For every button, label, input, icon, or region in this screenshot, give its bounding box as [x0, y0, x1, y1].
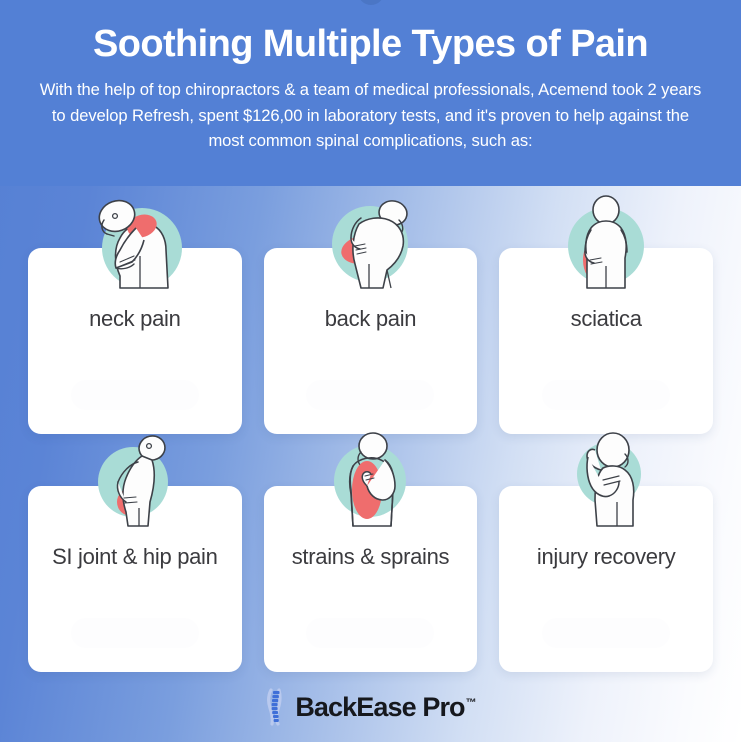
card-slot-back-pain: back pain	[264, 248, 478, 434]
card-placeholder-bar	[71, 380, 199, 410]
pain-card-si-joint-hip-pain[interactable]: SI joint & hip pain	[28, 486, 242, 672]
card-slot-sciatica: sciatica	[499, 248, 713, 434]
trademark-symbol: ™	[466, 697, 477, 709]
card-placeholder-bar	[71, 618, 199, 648]
card-placeholder-bar	[542, 380, 670, 410]
pain-type-card-grid: neck pain	[0, 248, 741, 672]
pain-card-neck-pain[interactable]: neck pain	[28, 248, 242, 434]
pain-card-injury-recovery[interactable]: injury recovery	[499, 486, 713, 672]
page-subtitle: With the help of top chiropractors & a t…	[35, 65, 707, 154]
card-label: sciatica	[563, 306, 650, 332]
card-slot-injury-recovery: injury recovery	[499, 486, 713, 672]
pain-card-sciatica[interactable]: sciatica	[499, 248, 713, 434]
card-label: strains & sprains	[284, 544, 458, 570]
card-slot-si-joint-hip-pain: SI joint & hip pain	[28, 486, 242, 672]
spine-icon	[264, 688, 286, 726]
card-slot-strains-sprains: strains & sprains	[264, 486, 478, 672]
card-placeholder-bar	[306, 380, 434, 410]
pain-card-back-pain[interactable]: back pain	[264, 248, 478, 434]
card-label: injury recovery	[529, 544, 684, 570]
card-label: back pain	[317, 306, 424, 332]
infographic-page: Soothing Multiple Types of Pain With the…	[0, 0, 741, 742]
card-label: SI joint & hip pain	[44, 544, 226, 570]
card-slot-neck-pain: neck pain	[28, 248, 242, 434]
card-placeholder-bar	[542, 618, 670, 648]
brand-name-text: BackEase Pro	[295, 692, 464, 722]
card-placeholder-bar	[306, 618, 434, 648]
page-title: Soothing Multiple Types of Pain	[26, 0, 715, 65]
card-label: neck pain	[81, 306, 188, 332]
header-banner: Soothing Multiple Types of Pain With the…	[0, 0, 741, 186]
brand-name: BackEase Pro™	[295, 692, 476, 723]
pain-card-strains-sprains[interactable]: strains & sprains	[264, 486, 478, 672]
brand-footer: BackEase Pro™	[0, 688, 741, 726]
